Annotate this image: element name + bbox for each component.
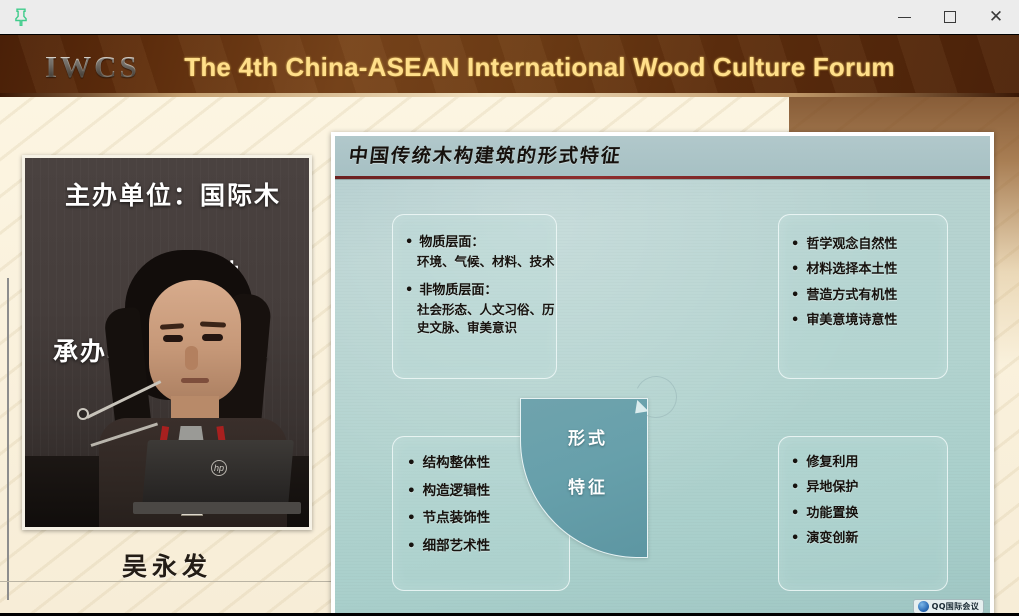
list-item: 细部艺术性 (407, 533, 490, 561)
close-icon: ✕ (989, 9, 1003, 26)
maximize-button[interactable] (927, 0, 973, 34)
list-item: 哲学观念自然性 (791, 232, 897, 257)
pin-icon[interactable] (10, 6, 32, 28)
left-vertical-rule (7, 278, 9, 600)
mouth (181, 378, 209, 383)
tl-group-1-detail: 社会形态、人文习俗、历史文脉、审美意识 (417, 301, 555, 337)
bottom-left-bullet-list: 结构整体性 构造逻辑性 节点装饰性 细部艺术性 (407, 450, 490, 561)
nose (185, 346, 198, 370)
list-item: 结构整体性 (407, 450, 490, 478)
backdrop-line-1: 主办单位：国际木 (65, 176, 281, 212)
main-content: IWCS The 4th China-ASEAN International W… (0, 35, 1019, 613)
tl-group-0-detail: 环境、气候、材料、技术 (417, 253, 555, 271)
list-item: 营造方式有机性 (791, 283, 897, 308)
bottom-right-bullet-list: 修复利用 异地保护 功能置换 演变创新 (791, 450, 858, 551)
presentation-slide-panel[interactable]: 中国传统木构建筑的形式特征 物质层面： 环境、气候、材料、技术 非物质层面： 社… (331, 132, 994, 613)
forum-banner: IWCS The 4th China-ASEAN International W… (0, 35, 1019, 97)
list-item: 材料选择本土性 (791, 257, 897, 282)
banner-divider (0, 93, 1019, 97)
maximize-icon (944, 11, 956, 23)
close-button[interactable]: ✕ (973, 0, 1019, 34)
list-item: 构造逻辑性 (407, 478, 490, 506)
minimize-button[interactable] (881, 0, 927, 34)
top-right-bullet-list: 哲学观念自然性 材料选择本土性 营造方式有机性 审美意境诗意性 (791, 232, 897, 333)
minimize-icon (898, 17, 911, 18)
speaker-name: 吴永发 (22, 547, 312, 583)
app-window: ✕ IWCS The 4th China-ASEAN International… (0, 0, 1019, 616)
tl-group-1-heading: 非物质层面： (405, 279, 555, 298)
list-item: 审美意境诗意性 (791, 308, 897, 333)
window-titlebar: ✕ (0, 0, 1019, 35)
eye-right (202, 334, 223, 341)
slide-title-rule-shadow (335, 179, 990, 180)
slide-title: 中国传统木构建筑的形式特征 (347, 141, 623, 168)
laptop-brand-logo: hp (211, 460, 227, 476)
watermark-logo-icon (918, 601, 929, 612)
list-item: 节点装饰性 (407, 505, 490, 533)
watermark-label: QQ国际会议 (932, 601, 979, 612)
center-fan-label: 形式 特征 (533, 424, 643, 498)
list-item: 演变创新 (791, 526, 858, 551)
eye-left (163, 335, 183, 342)
list-item: 异地保护 (791, 475, 858, 500)
center-label-line-1: 形式 (568, 429, 608, 449)
list-item: 功能置换 (791, 501, 858, 526)
watermark-badge: QQ国际会议 (913, 599, 984, 613)
tl-group-0-heading: 物质层面： (405, 231, 555, 250)
face (149, 280, 241, 404)
laptop-base (133, 502, 301, 514)
list-item: 修复利用 (791, 450, 858, 475)
center-label-line-2: 特征 (533, 473, 643, 498)
speaker-video-panel[interactable]: 主办单位：国际木 中国林 承办单位：国际木 (22, 155, 312, 530)
top-left-content: 物质层面： 环境、气候、材料、技术 非物质层面： 社会形态、人文习俗、历史文脉、… (405, 231, 555, 345)
forum-title: The 4th China-ASEAN International Wood C… (0, 52, 1019, 83)
slide-canvas: 中国传统木构建筑的形式特征 物质层面： 环境、气候、材料、技术 非物质层面： 社… (335, 136, 990, 613)
